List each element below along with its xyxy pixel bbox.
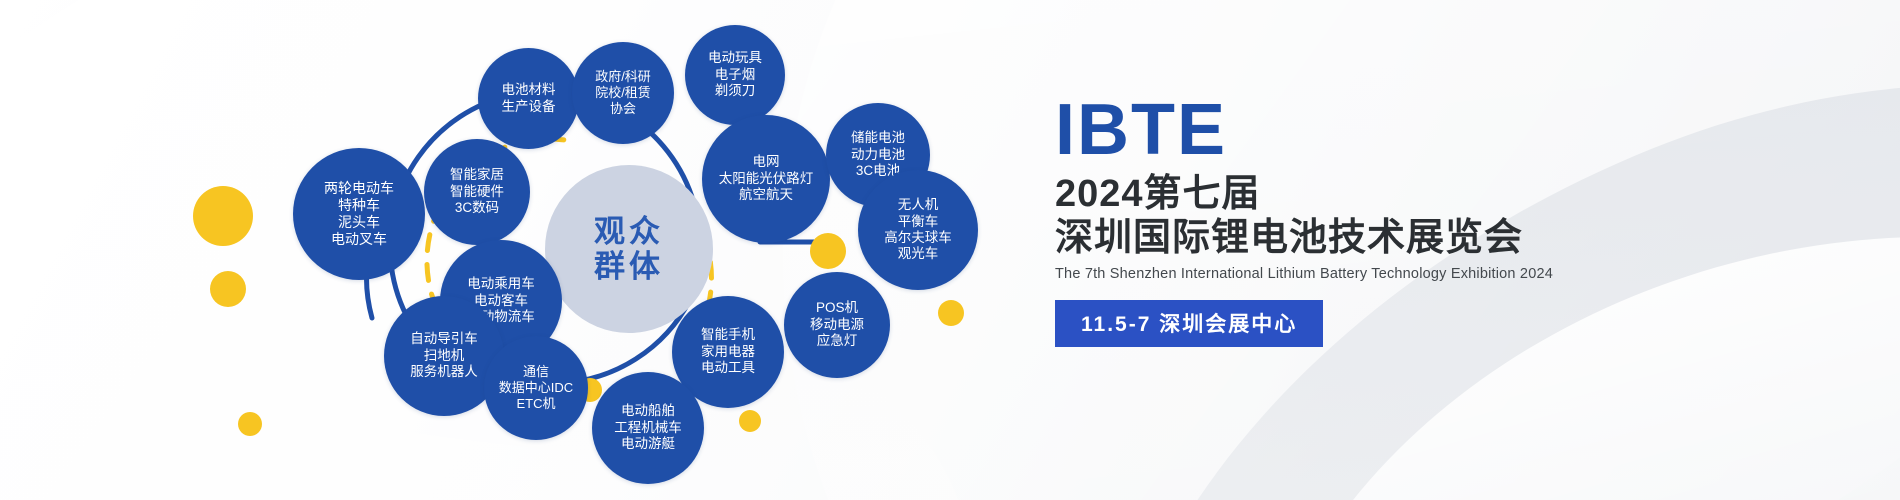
bubble-line: ETC机 xyxy=(516,396,555,412)
bubble-electric-toys[interactable]: 电动玩具 电子烟 剃须刀 xyxy=(685,25,785,125)
bubble-line: 高尔夫球车 xyxy=(884,230,952,246)
event-branding-block: IBTE 2024第七届 深圳国际锂电池技术展览会 The 7th Shenzh… xyxy=(1055,96,1855,347)
bubble-line: 两轮电动车 xyxy=(324,180,394,197)
bubble-line: 通信 xyxy=(523,364,549,380)
audience-infographic: 观众 群体 两轮电动车 特种车 泥头车 电动叉车 智能家居 智能硬件 3C数码 … xyxy=(0,0,1030,500)
bubble-pos-powerbank[interactable]: POS机 移动电源 应急灯 xyxy=(784,272,890,378)
bubble-line: 电动游艇 xyxy=(621,436,675,452)
center-bubble-audience: 观众 群体 xyxy=(545,165,713,333)
bubble-line: 电动船舶 xyxy=(621,403,675,419)
bubble-smart-home[interactable]: 智能家居 智能硬件 3C数码 xyxy=(424,139,530,245)
bubble-line: 无人机 xyxy=(898,197,939,213)
ibte-logo-text: IBTE xyxy=(1055,90,1227,170)
bubble-battery-materials[interactable]: 电池材料 生产设备 xyxy=(478,48,579,149)
bubble-line: 服务机器人 xyxy=(410,364,478,380)
bubble-line: 家用电器 xyxy=(701,344,755,360)
bubble-line: 协会 xyxy=(610,101,636,117)
bubble-line: 数据中心IDC xyxy=(499,380,573,396)
bubble-line: 院校/租赁 xyxy=(595,85,651,101)
bubble-line: 泥头车 xyxy=(338,214,380,231)
accent-dot-5 xyxy=(210,271,246,307)
bubble-line: 电网 xyxy=(753,154,780,170)
bubble-line: 工程机械车 xyxy=(614,420,682,436)
center-label-line-1: 观众 xyxy=(594,214,664,249)
accent-dot-6 xyxy=(810,233,846,269)
bubble-line: 平衡车 xyxy=(898,214,939,230)
bubble-communication-idc[interactable]: 通信 数据中心IDC ETC机 xyxy=(484,336,588,440)
bubble-line: 生产设备 xyxy=(502,99,556,115)
bubble-line: 动力电池 xyxy=(851,147,905,163)
bubble-line: 扫地机 xyxy=(424,348,465,364)
bubble-drones[interactable]: 无人机 平衡车 高尔夫球车 观光车 xyxy=(858,170,978,290)
bubble-line: 电动客车 xyxy=(474,293,528,309)
event-subtitle-english: The 7th Shenzhen International Lithium B… xyxy=(1055,266,1855,282)
bubble-two-wheel-vehicles[interactable]: 两轮电动车 特种车 泥头车 电动叉车 xyxy=(293,148,425,280)
event-title-line-2: 深圳国际锂电池技术展览会 xyxy=(1055,216,1855,260)
bubble-line: 政府/科研 xyxy=(595,69,651,85)
bubble-line: 储能电池 xyxy=(851,130,905,146)
bubble-line: 电动玩具 xyxy=(708,50,762,66)
event-title-line-1: 2024第七届 xyxy=(1055,172,1855,216)
bubble-line: 智能家居 xyxy=(450,167,504,183)
bubble-government-research[interactable]: 政府/科研 院校/租赁 协会 xyxy=(572,42,674,144)
ibte-promo-banner: 观众 群体 两轮电动车 特种车 泥头车 电动叉车 智能家居 智能硬件 3C数码 … xyxy=(0,0,1900,500)
date-venue-badge: 11.5-7 深圳会展中心 xyxy=(1055,300,1323,347)
bubble-line: 应急灯 xyxy=(817,333,858,349)
bubble-line: 电池材料 xyxy=(502,82,556,98)
bubble-line: 移动电源 xyxy=(810,317,864,333)
accent-dot-8 xyxy=(938,300,964,326)
bubble-line: POS机 xyxy=(816,300,858,316)
bubble-grid-solar[interactable]: 电网 太阳能光伏路灯 航空航天 xyxy=(702,115,830,243)
bubble-line: 智能硬件 xyxy=(450,184,504,200)
bubble-line: 剃须刀 xyxy=(715,83,756,99)
ibte-logo: IBTE xyxy=(1055,96,1855,164)
accent-dot-1 xyxy=(193,186,253,246)
bubble-line: 电子烟 xyxy=(715,67,756,83)
bubble-electric-vessels[interactable]: 电动船舶 工程机械车 电动游艇 xyxy=(592,372,704,484)
center-label-line-2: 群体 xyxy=(594,249,664,284)
bubble-line: 电动乘用车 xyxy=(467,276,535,292)
bubble-line: 特种车 xyxy=(338,197,380,214)
bubble-line: 自动导引车 xyxy=(410,331,478,347)
bubble-line: 太阳能光伏路灯 xyxy=(719,171,814,187)
bubble-line: 智能手机 xyxy=(701,327,755,343)
bubble-line: 观光车 xyxy=(898,246,939,262)
bubble-line: 3C数码 xyxy=(455,200,499,216)
accent-dot-10 xyxy=(739,410,761,432)
bubble-line: 航空航天 xyxy=(739,187,793,203)
accent-dot-11 xyxy=(238,412,262,436)
bubble-line: 电动叉车 xyxy=(331,231,387,248)
bubble-line: 电动工具 xyxy=(701,360,755,376)
